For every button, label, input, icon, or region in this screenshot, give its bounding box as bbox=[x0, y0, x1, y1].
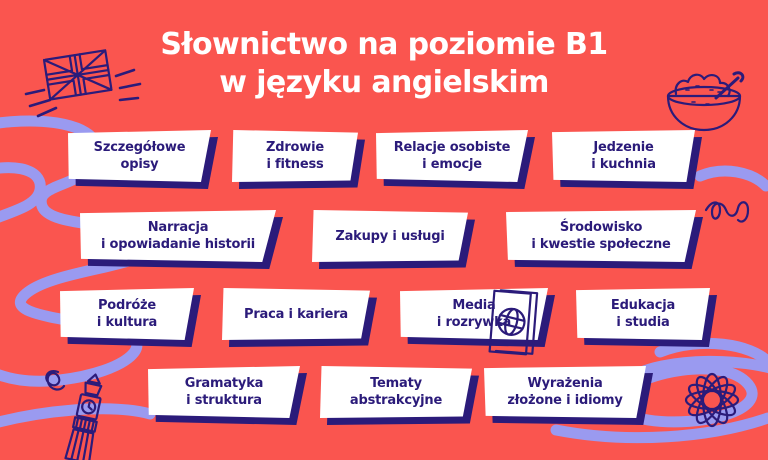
topic-card[interactable]: Narracja i opowiadanie historii bbox=[80, 210, 276, 262]
topic-card[interactable]: Media i rozrywka bbox=[400, 288, 548, 340]
topic-card[interactable]: Środowisko i kwestie społeczne bbox=[506, 210, 696, 262]
topic-card-label: Tematy abstrakcyjne bbox=[350, 375, 442, 409]
topic-card[interactable]: Zakupy i usługi bbox=[312, 210, 468, 262]
topic-card[interactable]: Tematy abstrakcyjne bbox=[320, 366, 472, 418]
topic-card-label: Media i rozrywka bbox=[437, 297, 511, 331]
topic-card-label: Wyrażenia złożone i idiomy bbox=[507, 375, 622, 409]
topic-card-label: Zdrowie i fitness bbox=[266, 139, 324, 173]
infographic-poster: Słownictwo na poziomie B1 w języku angie… bbox=[0, 0, 768, 460]
topic-card[interactable]: Relacje osobiste i emocje bbox=[376, 130, 528, 182]
topic-card-label: Praca i kariera bbox=[244, 306, 348, 323]
topic-card-label: Podróże i kultura bbox=[97, 297, 157, 331]
topic-card[interactable]: Wyrażenia złożone i idiomy bbox=[484, 366, 646, 418]
topic-card[interactable]: Praca i kariera bbox=[222, 288, 370, 340]
topic-card-label: Narracja i opowiadanie historii bbox=[101, 219, 255, 253]
topic-card-label: Gramatyka i struktura bbox=[185, 375, 263, 409]
topic-card-label: Relacje osobiste i emocje bbox=[394, 139, 511, 173]
topic-card[interactable]: Podróże i kultura bbox=[60, 288, 194, 340]
topic-card-label: Zakupy i usługi bbox=[335, 228, 444, 245]
topic-card-label: Edukacja i studia bbox=[611, 297, 675, 331]
topic-card[interactable]: Jedzenie i kuchnia bbox=[552, 130, 695, 182]
topic-card-grid: Szczegółowe opisyZdrowie i fitnessRelacj… bbox=[0, 0, 768, 460]
topic-card-label: Środowisko i kwestie społeczne bbox=[531, 219, 670, 253]
topic-card-label: Jedzenie i kuchnia bbox=[591, 139, 656, 173]
topic-card[interactable]: Edukacja i studia bbox=[576, 288, 710, 340]
topic-card-label: Szczegółowe opisy bbox=[94, 139, 186, 173]
topic-card[interactable]: Zdrowie i fitness bbox=[232, 130, 358, 182]
topic-card[interactable]: Szczegółowe opisy bbox=[68, 130, 211, 182]
topic-card[interactable]: Gramatyka i struktura bbox=[148, 366, 300, 418]
